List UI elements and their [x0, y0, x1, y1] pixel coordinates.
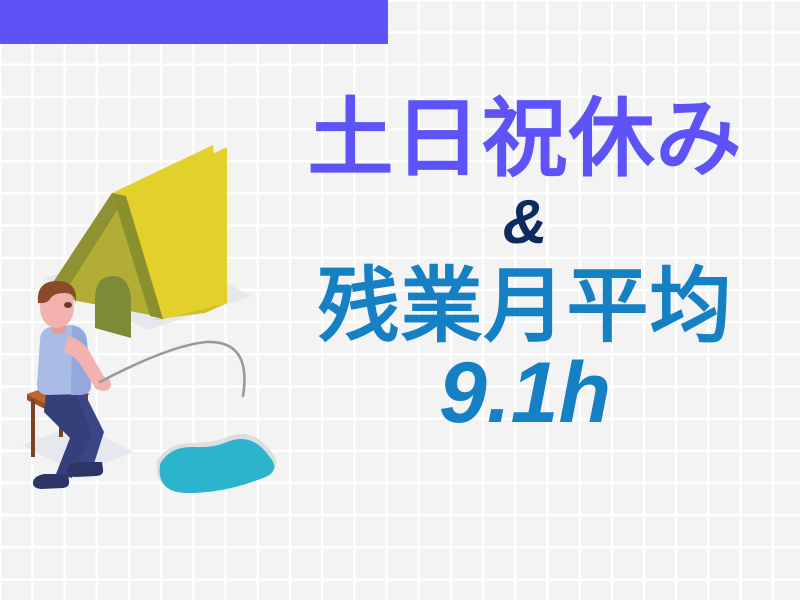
headline-line-2: 残業月平均 [258, 266, 792, 348]
fisherman-shoe-back-icon [67, 462, 103, 477]
fisherman-shoe-front-icon [33, 474, 69, 489]
headline-separator: & [258, 192, 792, 254]
tent-door-icon [95, 276, 131, 338]
headline-line-1: 土日祝休み [258, 96, 792, 182]
fisherman-eye-icon [64, 302, 72, 308]
headline-block: 土日祝休み & 残業月平均 9.1h [258, 96, 792, 436]
poster-canvas: 土日祝休み & 残業月平均 9.1h [0, 0, 800, 600]
fishing-rod-icon [100, 342, 244, 396]
headline-overtime-value: 9.1h [258, 350, 792, 436]
stool-leg-front-icon [31, 399, 35, 457]
